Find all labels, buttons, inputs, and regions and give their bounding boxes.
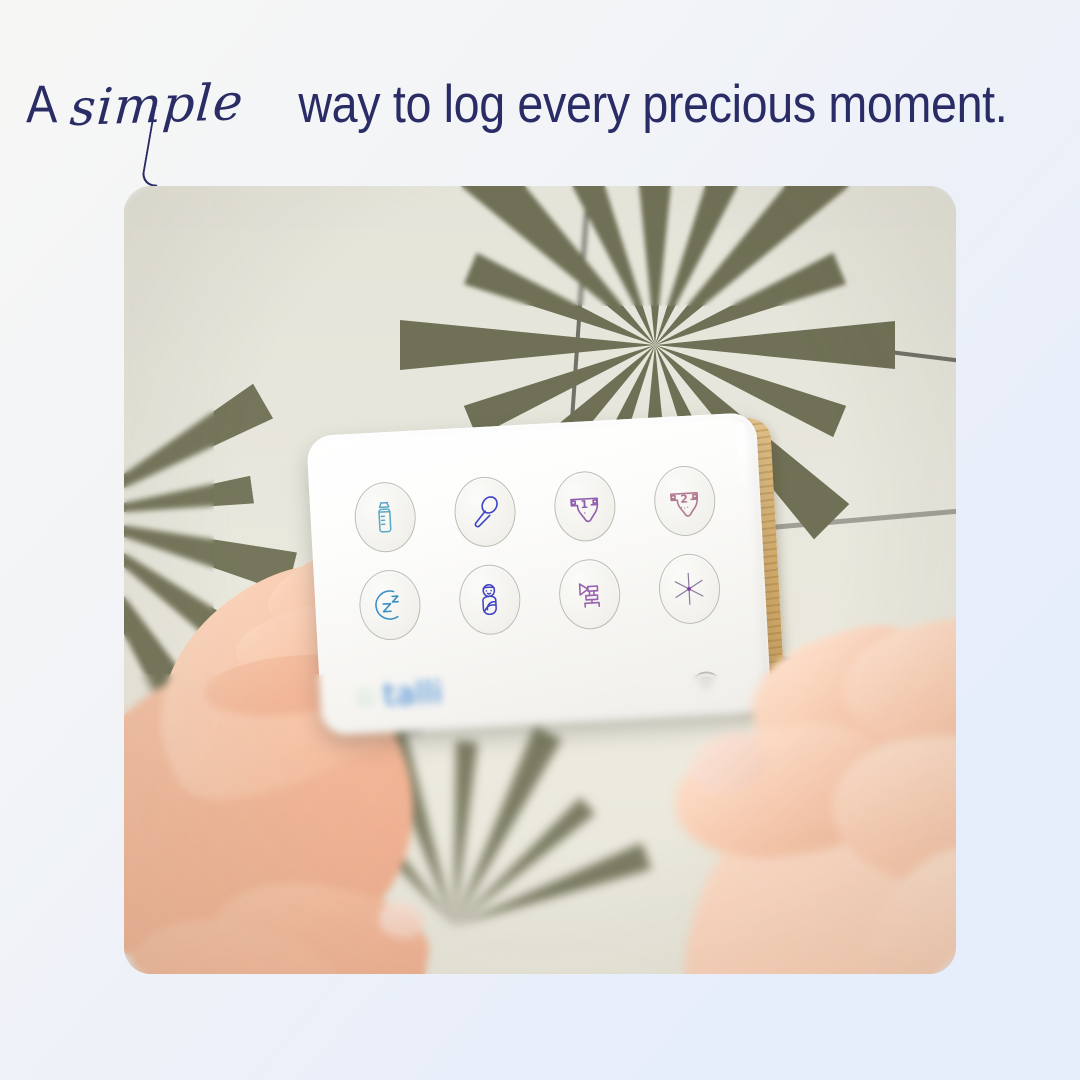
product-photo: 1 2 — [124, 186, 956, 974]
button-bottle[interactable] — [337, 474, 433, 561]
page-title: A simple way to log every precious momen… — [0, 74, 1080, 135]
diaper-icon: 2 — [663, 480, 705, 522]
diaper-number: 2 — [680, 492, 688, 505]
depth-of-field-blur — [124, 186, 956, 306]
headline-before: A — [26, 74, 57, 135]
button-solids[interactable] — [436, 468, 532, 555]
depth-of-field-blur — [124, 674, 956, 974]
breast-pump-icon — [568, 573, 610, 615]
headline-script-word: simple — [68, 73, 246, 137]
spoon-icon — [464, 491, 506, 533]
headline-after: way to log every precious moment. — [298, 74, 1007, 135]
button-pump[interactable] — [541, 551, 637, 638]
swaddled-baby-icon — [468, 579, 510, 621]
sleep-moon-icon — [368, 584, 410, 626]
button-diaper-2[interactable]: 2 — [636, 458, 732, 545]
bottle-icon — [364, 496, 406, 538]
button-diaper-1[interactable]: 1 — [536, 463, 632, 550]
button-nursing[interactable] — [441, 556, 537, 643]
diaper-icon: 1 — [563, 485, 605, 527]
promo-card: A simple way to log every precious momen… — [0, 0, 1080, 1080]
button-sleep[interactable] — [341, 562, 437, 649]
asterisk-icon — [668, 568, 710, 610]
diaper-number: 1 — [580, 498, 588, 511]
